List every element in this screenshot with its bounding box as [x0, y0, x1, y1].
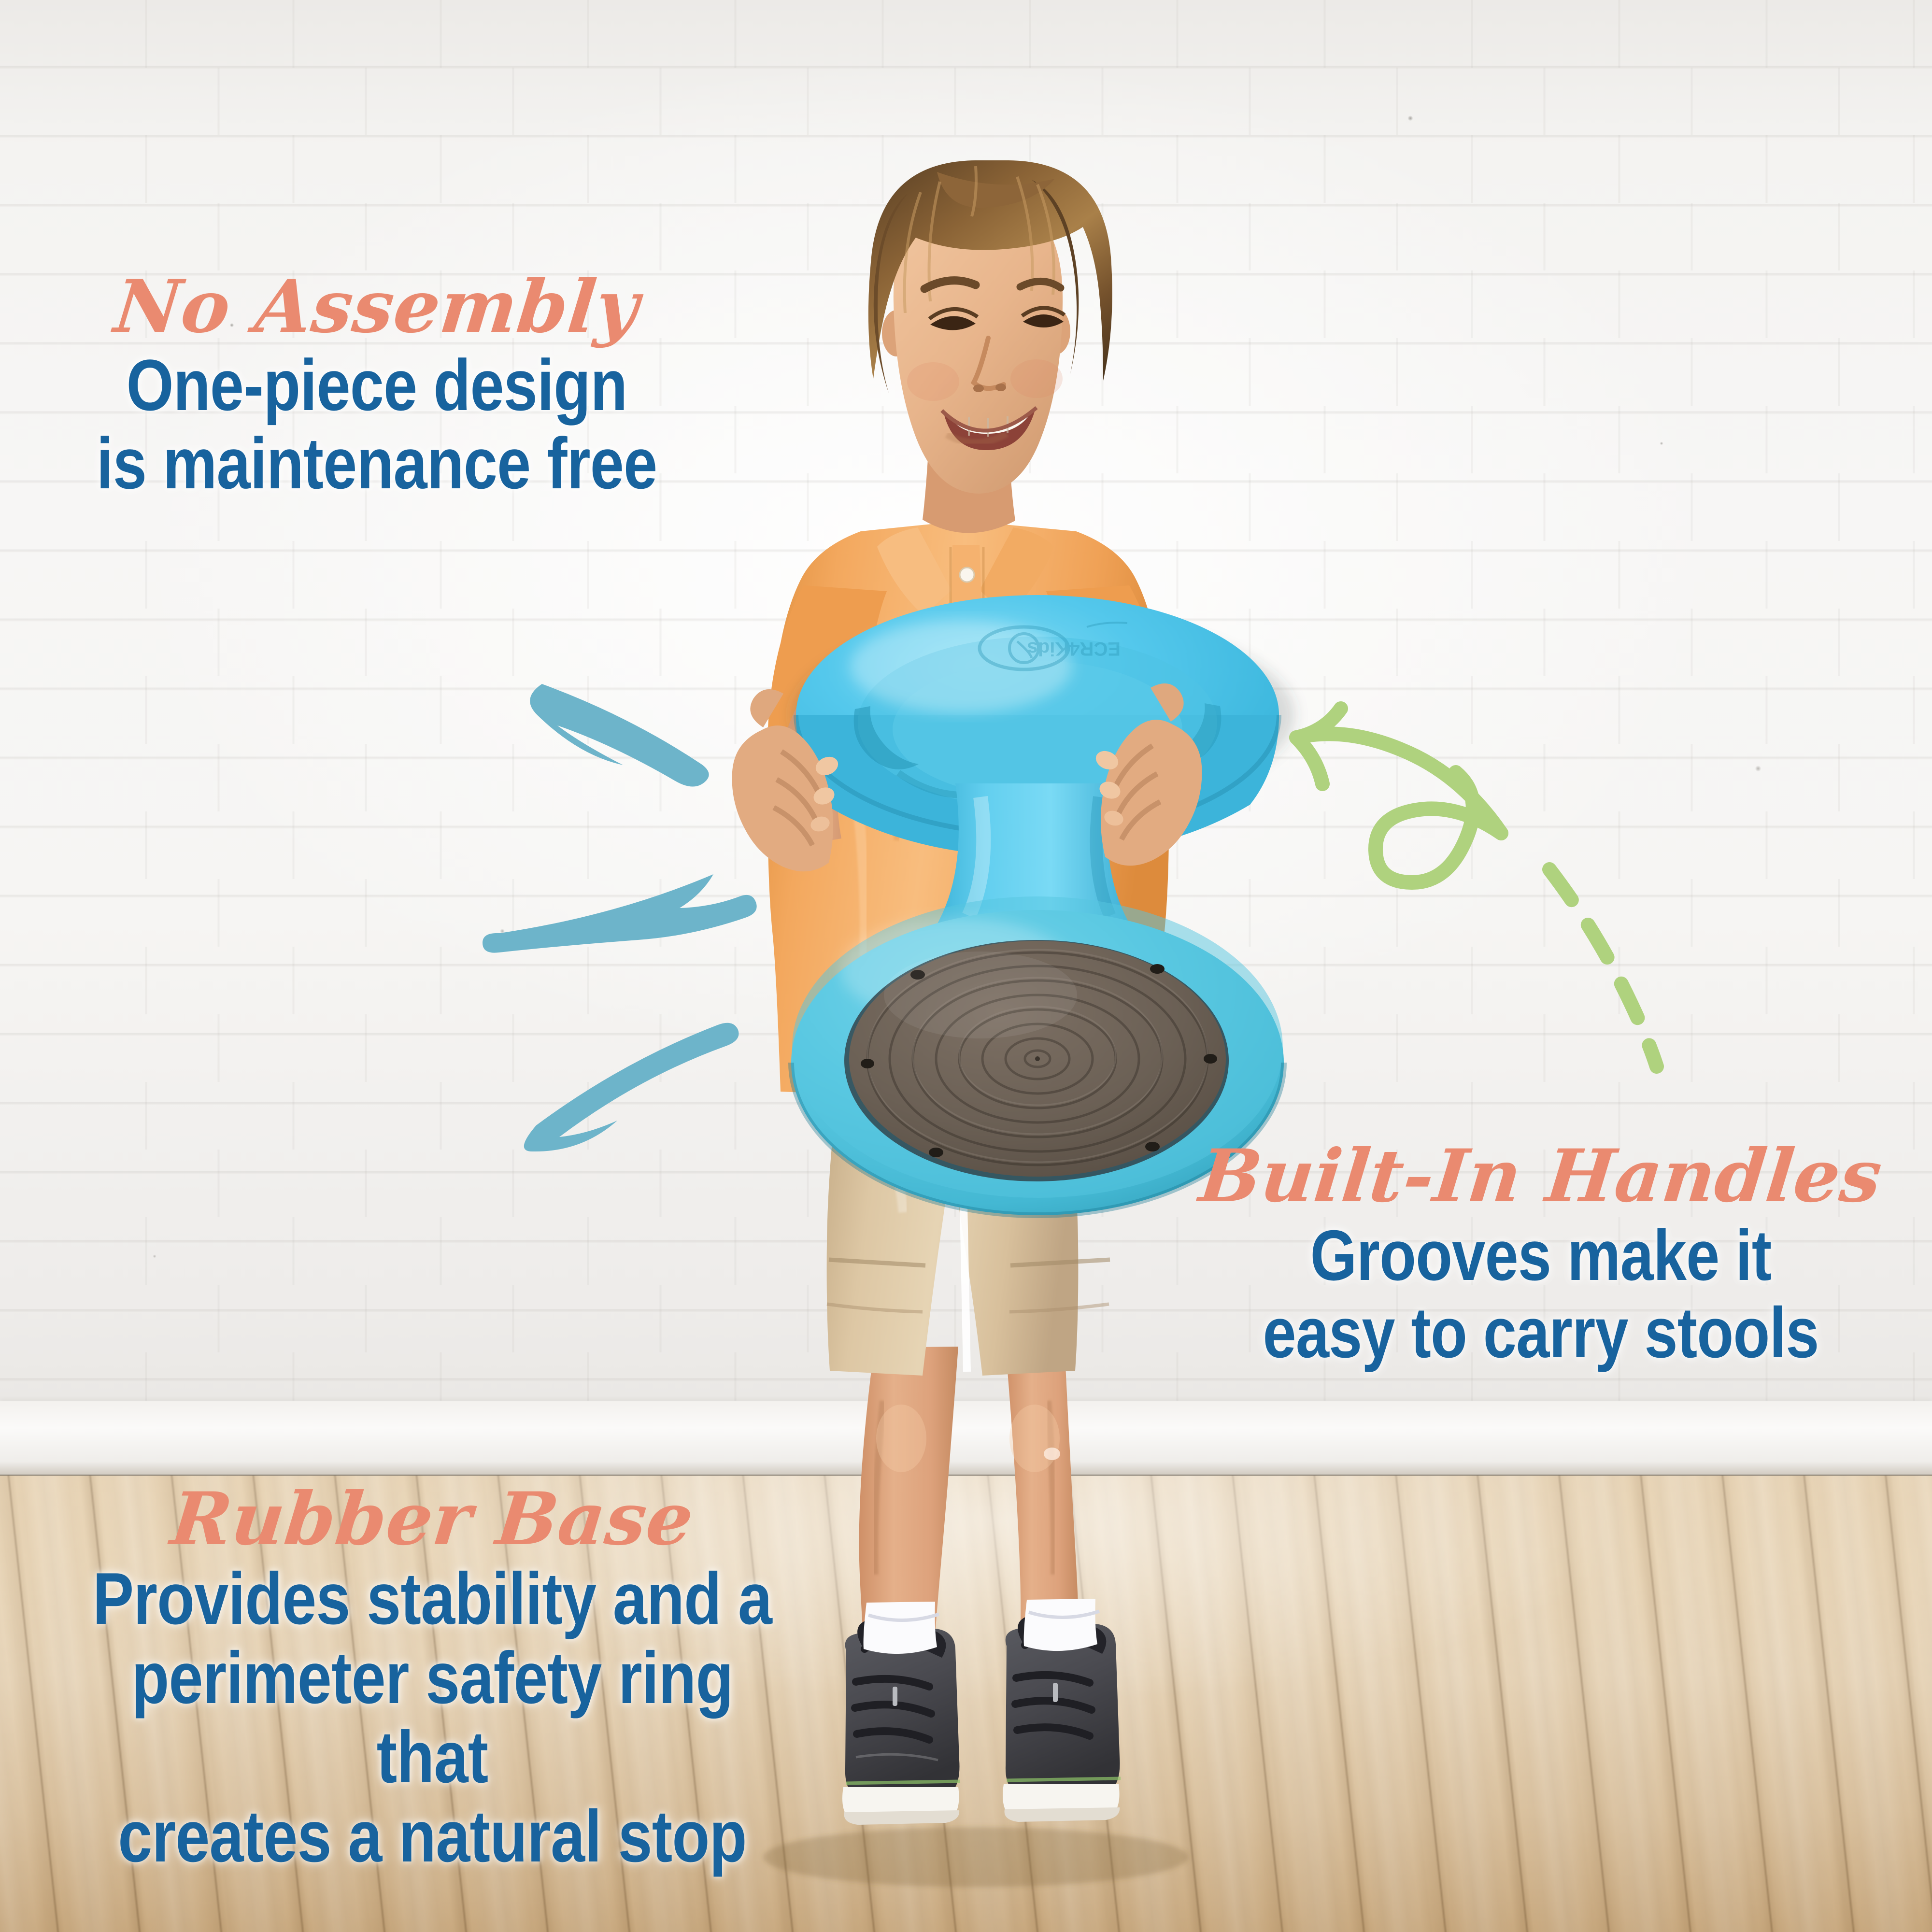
marketing-image-canvas: ECR4Kids: [0, 0, 1932, 1932]
headline-line: One-piece design: [76, 346, 677, 424]
hand-right: [1093, 683, 1202, 866]
callout-no-assembly-script: No Assembly: [15, 270, 738, 343]
headline-line: Provides stability and a: [69, 1559, 796, 1638]
callout-built-in-handles-script: Built-In Handles: [1155, 1140, 1926, 1212]
callout-built-in-handles: Built-In Handles Grooves make it easy to…: [1159, 1140, 1922, 1372]
callout-built-in-handles-headline: Grooves make it easy to carry stools: [1220, 1217, 1861, 1372]
headline-line: is maintenance free: [76, 424, 677, 502]
hand-left: [732, 689, 841, 871]
callout-no-assembly-headline: One-piece design is maintenance free: [76, 346, 677, 502]
headline-line: Grooves make it: [1220, 1217, 1861, 1294]
headline-line: perimeter safety ring that: [69, 1638, 796, 1797]
headline-line: creates a natural stop: [69, 1797, 796, 1876]
callout-no-assembly: No Assembly One-piece design is maintena…: [19, 270, 734, 502]
callout-rubber-base-script: Rubber Base: [0, 1483, 868, 1555]
callout-rubber-base: Rubber Base Provides stability and a per…: [0, 1483, 865, 1876]
callout-rubber-base-headline: Provides stability and a perimeter safet…: [69, 1559, 796, 1876]
headline-line: easy to carry stools: [1220, 1294, 1861, 1372]
